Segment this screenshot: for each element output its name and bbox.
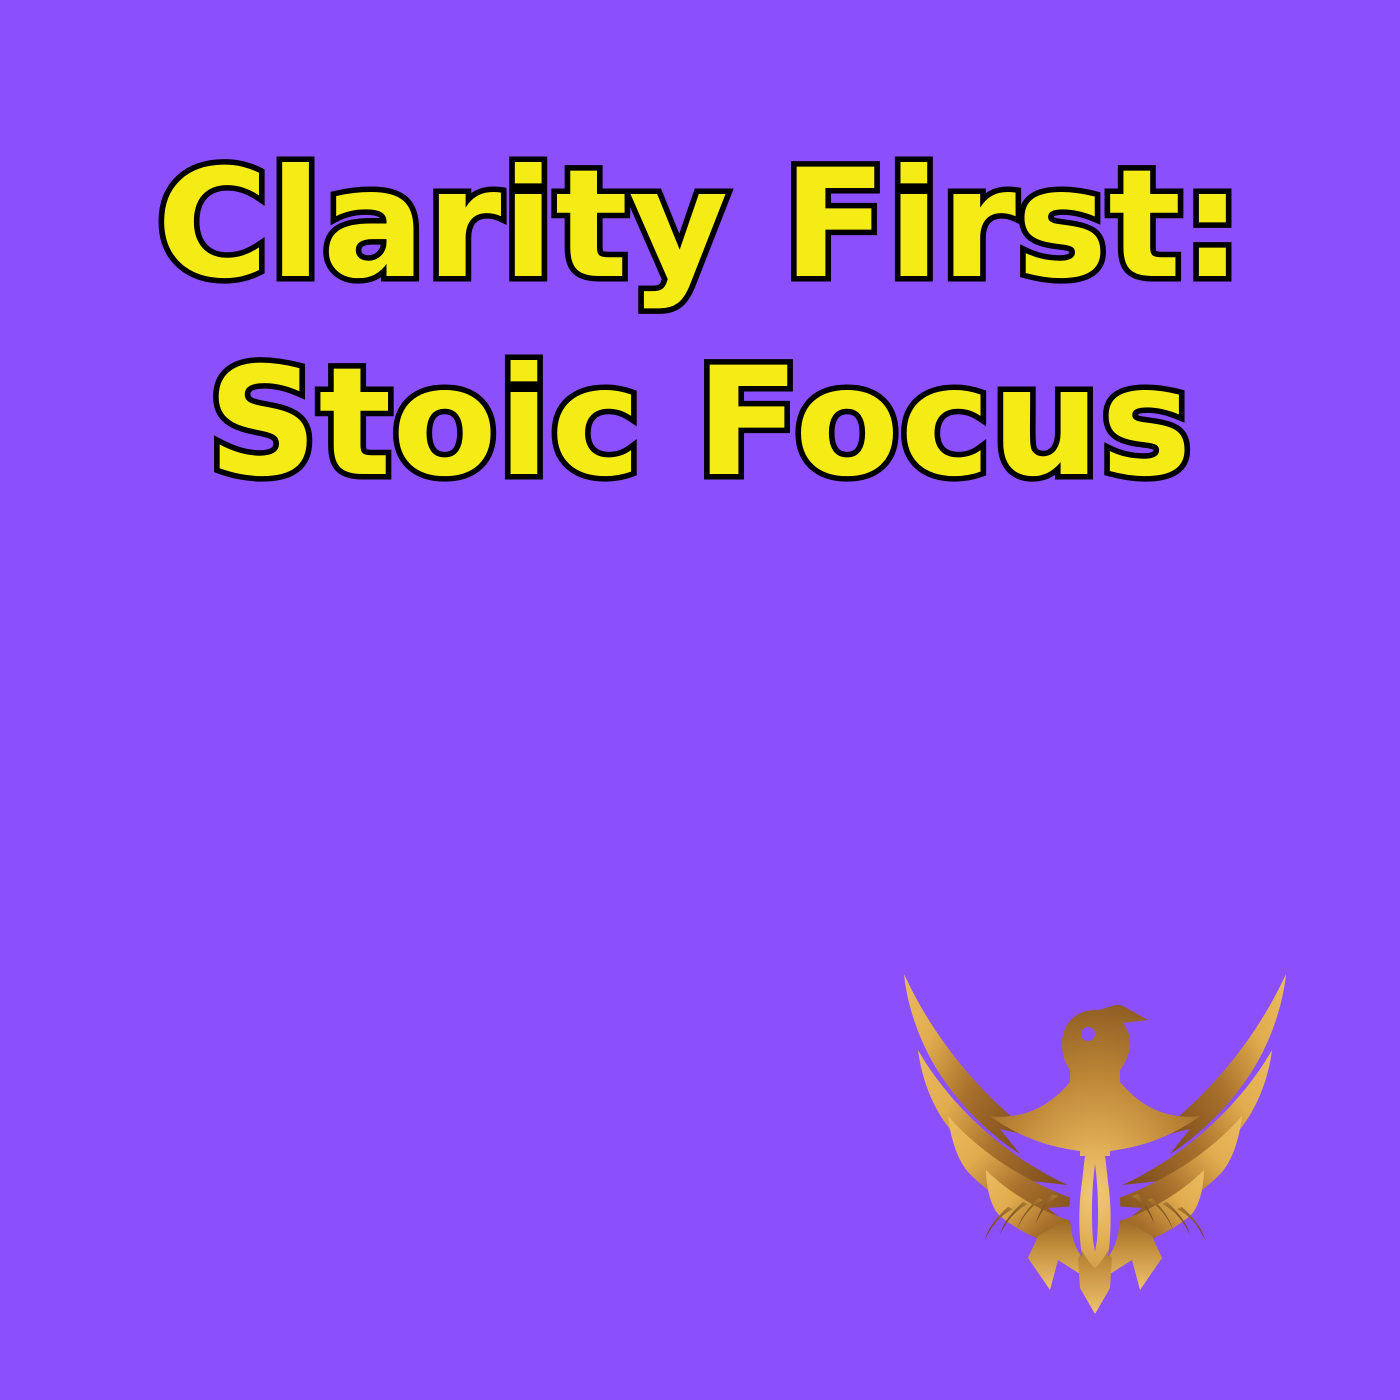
podcast-cover-artwork: Clarity First: Stoic Focus <box>0 0 1400 1400</box>
title-line-2: Stoic Focus <box>0 348 1400 498</box>
page-title: Clarity First: Stoic Focus <box>0 150 1400 498</box>
phoenix-eye <box>1081 1027 1095 1041</box>
phoenix-bird-icon <box>880 958 1310 1318</box>
phoenix-logo <box>880 958 1310 1318</box>
title-line-1: Clarity First: <box>0 150 1400 300</box>
